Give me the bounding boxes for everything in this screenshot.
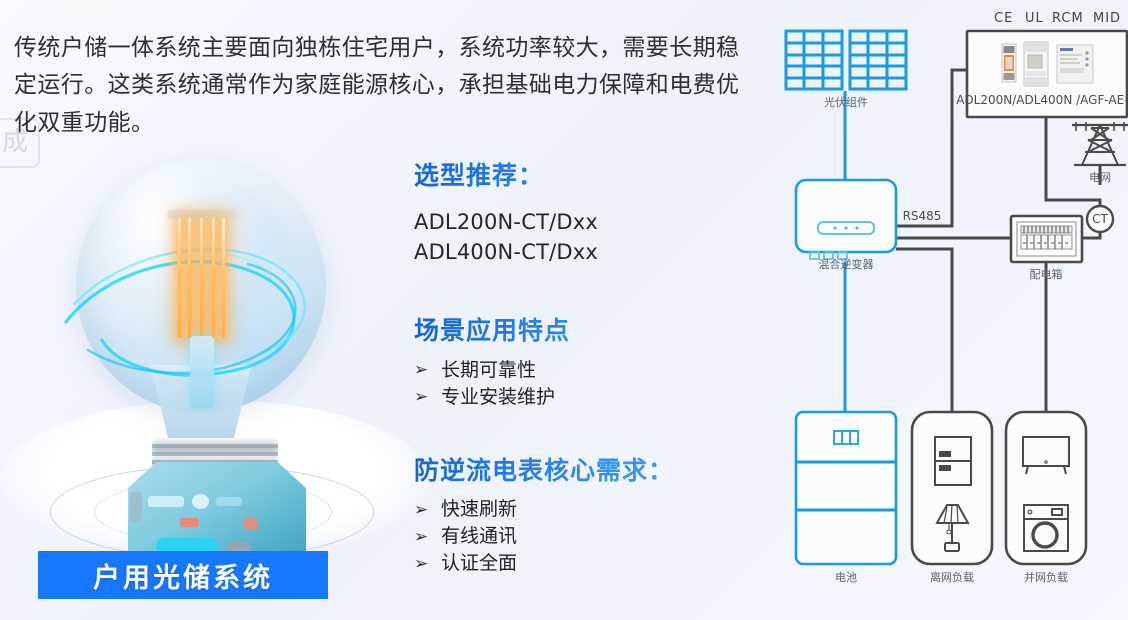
link-inverter-offgrid	[896, 249, 952, 412]
arrow-bullet-icon: ➢	[414, 385, 430, 409]
list-item: ➢ 快速刷新	[414, 496, 734, 523]
link-meterbox-ct	[1046, 117, 1100, 207]
lightbulb-illustration	[28, 150, 388, 550]
intro-paragraph: 传统户储一体系统主要面向独栋住宅用户，系统功率较大，需要长期稳定运行。这类系统通…	[14, 30, 754, 142]
inverter-label: 混合逆变器	[819, 257, 874, 271]
list-item-label: 长期可靠性	[441, 357, 536, 384]
pv-label: 光伏组件	[824, 95, 868, 109]
meter-device-adl200n	[1002, 44, 1016, 82]
section-heading-scenario: 场景应用特点	[414, 315, 734, 348]
section-heading-selection: 选型推荐：	[414, 160, 734, 193]
scenario-feature-list: ➢ 长期可靠性 ➢ 专业安装维护	[414, 357, 734, 411]
arrow-bullet-icon: ➢	[414, 358, 430, 382]
list-item-label: 快速刷新	[441, 496, 517, 523]
battery-stack	[796, 412, 896, 564]
meter-device-adl400n	[1024, 42, 1048, 86]
hybrid-inverter-box	[796, 180, 896, 252]
requirement-list: ➢ 快速刷新 ➢ 有线通讯 ➢ 认证全面	[414, 496, 734, 577]
offgrid-load-label: 离网负载	[930, 570, 974, 584]
model-list: ADL200N-CT/Dxx ADL400N-CT/Dxx	[414, 207, 734, 268]
meter-device-agf-ae-d	[1057, 45, 1093, 83]
bulb-stem	[190, 336, 214, 408]
list-item: ➢ 有线通讯	[414, 523, 734, 550]
grid-tower-icon	[1072, 122, 1128, 165]
ongrid-load-group	[1006, 412, 1086, 564]
bulb-filament	[176, 218, 228, 338]
certification-ul: UL	[1025, 11, 1044, 26]
ct-label: CT	[1092, 212, 1108, 226]
offgrid-load-group	[912, 412, 992, 564]
model-item: ADL200N-CT/Dxx	[414, 207, 734, 237]
ongrid-load-label: 并网负载	[1024, 570, 1068, 584]
section-heading-requirements: 防逆流电表核心需求：	[414, 455, 734, 488]
list-item-label: 有线通讯	[441, 523, 517, 550]
distribution-box-label: 配电箱	[1030, 267, 1063, 281]
battery-label: 电池	[835, 571, 857, 584]
arrow-bullet-icon: ➢	[414, 525, 430, 549]
pv-module-left	[786, 31, 842, 89]
model-item: ADL400N-CT/Dxx	[414, 237, 734, 267]
arrow-bullet-icon: ➢	[414, 498, 430, 522]
list-item-label: 专业安装维护	[441, 384, 555, 411]
rs485-label: RS485	[903, 209, 942, 223]
hero-tag-banner: 户用光储系统	[38, 551, 328, 599]
system-diagram: .ln{stroke:#4a4a4a;stroke-width:3;fill:n…	[762, 0, 1128, 620]
meter-box-label: ADL200N/ADL400N /AGF-AE-D	[956, 93, 1128, 107]
middle-text-column: 选型推荐： ADL200N-CT/Dxx ADL400N-CT/Dxx 场景应用…	[414, 160, 734, 577]
list-item: ➢ 长期可靠性	[414, 357, 734, 384]
list-item: ➢ 专业安装维护	[414, 384, 734, 411]
list-item: ➢ 认证全面	[414, 550, 734, 577]
distribution-box	[1011, 216, 1082, 262]
grid-label: 电网	[1089, 171, 1111, 184]
arrow-bullet-icon: ➢	[414, 552, 430, 576]
certification-rcm: RCM	[1052, 11, 1084, 26]
certification-ce: CE	[994, 11, 1013, 26]
certification-mid: MID	[1093, 11, 1121, 26]
poster-stage: 传统户储一体系统主要面向独栋住宅用户，系统功率较大，需要长期稳定运行。这类系统通…	[0, 0, 1128, 620]
list-item-label: 认证全面	[441, 550, 517, 577]
pv-module-right	[850, 31, 906, 89]
